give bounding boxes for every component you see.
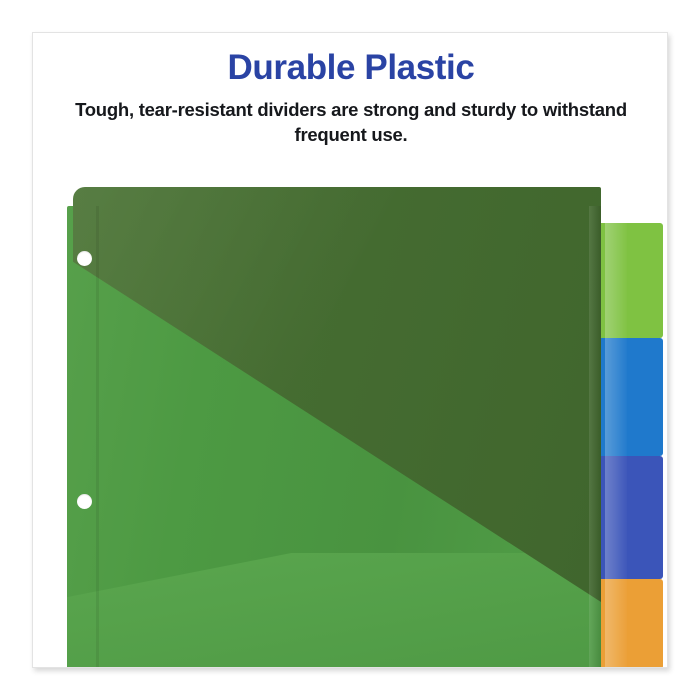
divider-tab-orange bbox=[599, 579, 663, 668]
divider-tab-indigo bbox=[599, 456, 663, 579]
screenshot-canvas: Durable Plastic Tough, tear-resistant di… bbox=[0, 0, 700, 700]
product-feature-card: Durable Plastic Tough, tear-resistant di… bbox=[32, 32, 668, 668]
headline-block: Durable Plastic Tough, tear-resistant di… bbox=[33, 47, 668, 147]
punch-hole-top bbox=[77, 251, 92, 266]
divider-tab-lime-green bbox=[599, 223, 663, 338]
page-title: Durable Plastic bbox=[33, 47, 668, 89]
punch-hole-bottom bbox=[77, 494, 92, 509]
page-subtitle: Tough, tear-resistant dividers are stron… bbox=[66, 97, 636, 147]
divider-tab-blue bbox=[599, 338, 663, 456]
divider-binding-strip bbox=[96, 206, 99, 668]
divider-right-edge bbox=[589, 206, 601, 668]
